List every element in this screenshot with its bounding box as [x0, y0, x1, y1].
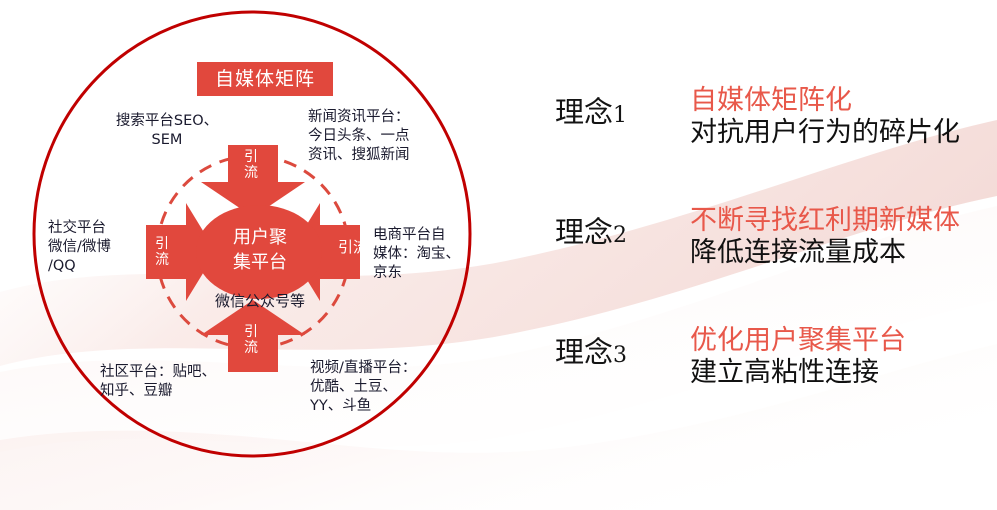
- concept-2-number: 理念2: [555, 205, 690, 251]
- concept-3-number-value: 3: [613, 343, 627, 368]
- diagram-title-banner: 自媒体矩阵: [197, 62, 333, 96]
- arrow-bottom-label: 引 流: [237, 325, 265, 356]
- concept-2-headline: 不断寻找红利期新媒体: [690, 205, 960, 237]
- concept-3-headline: 优化用户聚集平台: [690, 325, 906, 357]
- concept-3-body: 优化用户聚集平台 建立高粘性连接: [690, 325, 906, 389]
- label-ecommerce-platform: 电商平台自 媒体：淘宝、 京东: [373, 226, 483, 283]
- arrow-top-label: 引 流: [237, 150, 265, 181]
- concept-2-subline: 降低连接流量成本: [690, 237, 960, 269]
- concept-1-number-value: 1: [613, 103, 627, 128]
- label-community-platform: 社区平台：贴吧、 知乎、豆瓣: [100, 363, 270, 401]
- arrow-left-label: 引 流: [152, 237, 172, 268]
- concept-1-headline: 自媒体矩阵化: [690, 85, 960, 117]
- concept-3-subline: 建立高粘性连接: [690, 357, 906, 389]
- concept-1-body: 自媒体矩阵化 对抗用户行为的碎片化: [690, 85, 960, 149]
- concept-2-number-prefix: 理念: [555, 215, 613, 249]
- label-news-platform: 新闻资讯平台： 今日头条、一点 资讯、搜狐新闻: [308, 108, 468, 165]
- concept-1-number: 理念1: [555, 85, 690, 131]
- label-social-platform: 社交平台 微信/微博 /QQ: [48, 219, 158, 276]
- media-matrix-diagram: 自媒体矩阵 搜索平台SEO、 SEM 新闻资讯平台： 今日头条、一点 资讯、搜狐…: [0, 0, 520, 510]
- concept-1-number-prefix: 理念: [555, 95, 613, 129]
- concept-item-1: 理念1 自媒体矩阵化 对抗用户行为的碎片化: [555, 85, 960, 149]
- label-video-platform: 视频/直播平台： 优酷、土豆、 YY、斗鱼: [310, 359, 460, 416]
- center-ellipse-label: 用户聚 集平台: [200, 226, 320, 276]
- label-search-platform: 搜索平台SEO、 SEM: [92, 112, 242, 150]
- arrow-right-label: 引流: [331, 240, 375, 255]
- concept-item-3: 理念3 优化用户聚集平台 建立高粘性连接: [555, 325, 906, 389]
- concept-2-number-value: 2: [613, 223, 627, 248]
- center-caption: 微信公众号等: [185, 292, 335, 312]
- concepts-list: 理念1 自媒体矩阵化 对抗用户行为的碎片化 理念2 不断寻找红利期新媒体 降低连…: [545, 0, 997, 510]
- concept-item-2: 理念2 不断寻找红利期新媒体 降低连接流量成本: [555, 205, 960, 269]
- concept-2-body: 不断寻找红利期新媒体 降低连接流量成本: [690, 205, 960, 269]
- concept-3-number: 理念3: [555, 325, 690, 371]
- concept-1-subline: 对抗用户行为的碎片化: [690, 117, 960, 149]
- slide-canvas: 自媒体矩阵 搜索平台SEO、 SEM 新闻资讯平台： 今日头条、一点 资讯、搜狐…: [0, 0, 997, 510]
- concept-3-number-prefix: 理念: [555, 335, 613, 369]
